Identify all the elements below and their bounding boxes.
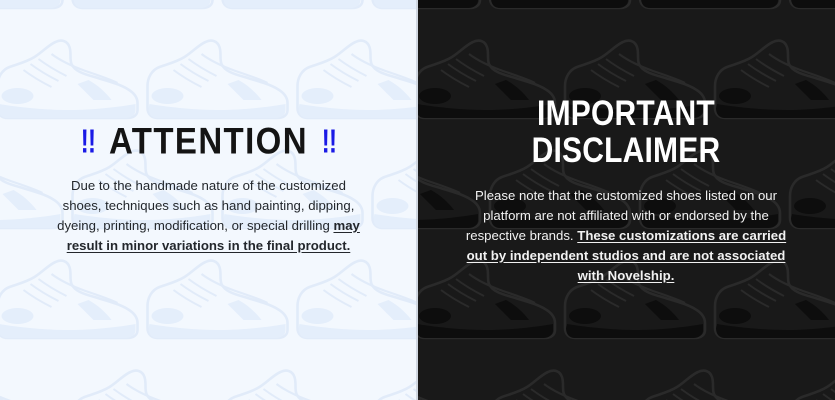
disclaimer-panel: IMPORTANT DISCLAIMER Please note that th… xyxy=(417,0,835,400)
panel-divider xyxy=(416,0,418,400)
exclamation-marks-left-icon: !! xyxy=(81,125,95,159)
attention-heading-text: ATTENTION xyxy=(109,120,308,161)
attention-content: !!ATTENTION!! Due to the handmade nature… xyxy=(0,126,417,256)
disclaimer-heading-line-2: DISCLAIMER xyxy=(453,133,799,169)
promo-banner: !!ATTENTION!! Due to the handmade nature… xyxy=(0,0,835,400)
attention-body: Due to the handmade nature of the custom… xyxy=(36,176,381,256)
attention-panel: !!ATTENTION!! Due to the handmade nature… xyxy=(0,0,417,400)
disclaimer-content: IMPORTANT DISCLAIMER Please note that th… xyxy=(417,108,835,286)
disclaimer-heading: IMPORTANT DISCLAIMER xyxy=(453,97,799,170)
attention-body-normal: Due to the handmade nature of the custom… xyxy=(57,178,354,233)
disclaimer-body: Please note that the customized shoes li… xyxy=(453,186,799,286)
attention-heading: !!ATTENTION!! xyxy=(36,122,381,159)
exclamation-marks-right-icon: !! xyxy=(322,125,336,159)
disclaimer-heading-line-1: IMPORTANT xyxy=(453,97,799,133)
